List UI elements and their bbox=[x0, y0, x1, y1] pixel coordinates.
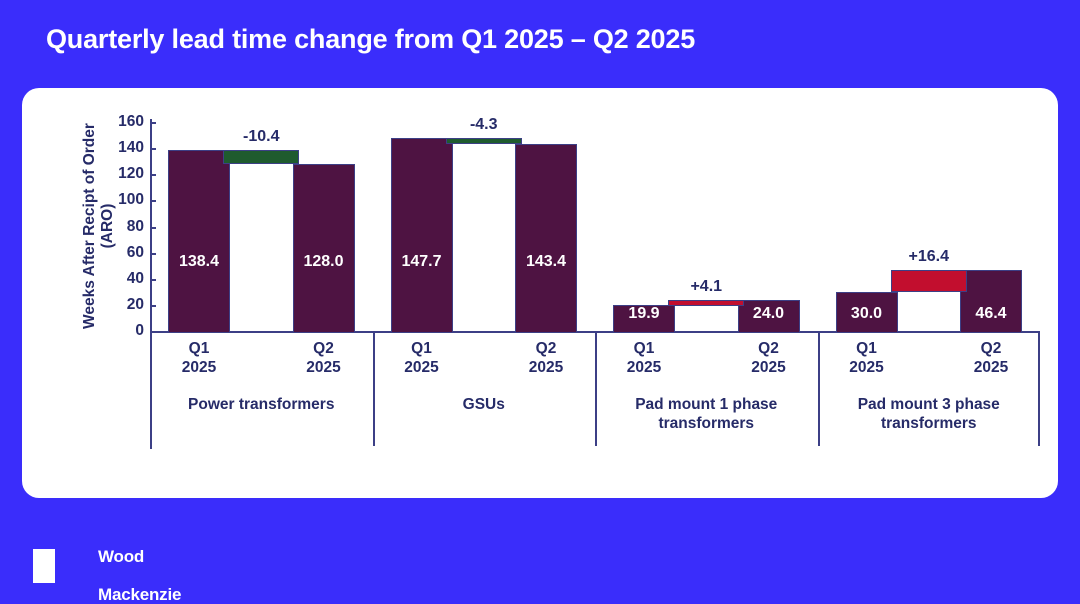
period-label-q2: Q2 2025 bbox=[946, 339, 1036, 377]
bar-q2[interactable] bbox=[515, 144, 577, 333]
y-axis-tick-mark bbox=[150, 331, 156, 333]
bar-value-label-q2: 143.4 bbox=[505, 253, 587, 271]
group-label: GSUs bbox=[373, 395, 596, 414]
delta-bar[interactable] bbox=[223, 150, 299, 164]
chart-page: { "title": "Quarterly lead time change f… bbox=[0, 0, 1080, 596]
y-axis-tick-label: 60 bbox=[98, 245, 144, 261]
y-axis-tick-mark bbox=[150, 227, 156, 229]
wood-mackenzie-logo-mark bbox=[33, 549, 85, 583]
y-axis-tick-mark bbox=[150, 305, 156, 307]
footer-logo: Wood Mackenzie bbox=[33, 528, 181, 604]
delta-bar[interactable] bbox=[891, 270, 967, 291]
y-axis-tick-mark bbox=[150, 279, 156, 281]
bar-q1[interactable] bbox=[391, 138, 453, 333]
y-axis-tick-label: 140 bbox=[98, 140, 144, 156]
bar-value-label-q1: 30.0 bbox=[826, 305, 908, 323]
period-label-q2: Q2 2025 bbox=[724, 339, 814, 377]
group-separator bbox=[373, 333, 375, 446]
group-separator bbox=[595, 333, 597, 446]
y-axis-tick-label: 0 bbox=[98, 323, 144, 339]
group-label: Power transformers bbox=[150, 395, 373, 414]
y-axis-tick-mark bbox=[150, 122, 156, 124]
y-axis-tick-label: 40 bbox=[98, 271, 144, 287]
y-axis-tick-label: 20 bbox=[98, 297, 144, 313]
logo-line-2: Mackenzie bbox=[98, 585, 181, 604]
delta-value-label: -4.3 bbox=[432, 116, 536, 134]
y-axis-tick-label: 120 bbox=[98, 166, 144, 182]
bar-value-label-q2: 128.0 bbox=[283, 253, 365, 271]
page-title: Quarterly lead time change from Q1 2025 … bbox=[46, 22, 1026, 56]
group-separator bbox=[1038, 333, 1040, 446]
y-axis-tick-mark bbox=[150, 253, 156, 255]
bar-q1[interactable] bbox=[168, 150, 230, 333]
bar-value-label-q1: 147.7 bbox=[381, 253, 463, 271]
delta-value-label: +4.1 bbox=[654, 278, 758, 296]
group-label: Pad mount 1 phase transformers bbox=[595, 395, 818, 433]
period-label-q1: Q1 2025 bbox=[377, 339, 467, 377]
period-label-q1: Q1 2025 bbox=[154, 339, 244, 377]
y-axis-tick-label: 80 bbox=[98, 219, 144, 235]
y-axis-tick-labels: 020406080100120140160 bbox=[94, 122, 144, 331]
bar-value-label-q2: 46.4 bbox=[950, 305, 1032, 323]
bar-value-label-q2: 24.0 bbox=[728, 305, 810, 323]
period-label-q2: Q2 2025 bbox=[501, 339, 591, 377]
plot-area: 138.4128.0-10.4147.7143.4-4.319.924.0+4.… bbox=[150, 122, 1040, 331]
y-axis-tick-mark bbox=[150, 200, 156, 202]
y-axis-tick-mark bbox=[150, 148, 156, 150]
delta-bar[interactable] bbox=[668, 300, 744, 306]
bar-value-label-q1: 138.4 bbox=[158, 253, 240, 271]
group-label: Pad mount 3 phase transformers bbox=[818, 395, 1041, 433]
period-label-q2: Q2 2025 bbox=[279, 339, 369, 377]
period-label-q1: Q1 2025 bbox=[599, 339, 689, 377]
bar-q2[interactable] bbox=[293, 164, 355, 333]
delta-bar[interactable] bbox=[446, 138, 522, 144]
y-axis-tick-label: 160 bbox=[98, 114, 144, 130]
logo-wordmark: Wood Mackenzie bbox=[98, 528, 181, 604]
category-axis-band: Q1 2025Q2 2025Power transformersQ1 2025Q… bbox=[150, 333, 1040, 446]
y-axis-tick-mark bbox=[150, 174, 156, 176]
logo-line-1: Wood bbox=[98, 547, 144, 566]
group-separator bbox=[818, 333, 820, 446]
delta-value-label: -10.4 bbox=[209, 128, 313, 146]
bar-q2[interactable] bbox=[960, 270, 1022, 333]
bar-value-label-q1: 19.9 bbox=[603, 305, 685, 323]
period-label-q1: Q1 2025 bbox=[822, 339, 912, 377]
y-axis-tick-label: 100 bbox=[98, 192, 144, 208]
delta-value-label: +16.4 bbox=[877, 248, 981, 266]
chart-card: Weeks After Recipt of Order (ARO) 020406… bbox=[22, 88, 1058, 498]
